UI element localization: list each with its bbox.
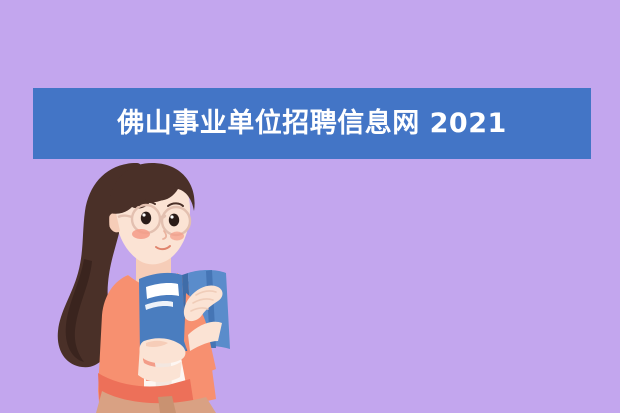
promo-banner: 佛山事业单位招聘信息网 2021 — [0, 0, 620, 413]
page-title: 佛山事业单位招聘信息网 2021 — [117, 110, 507, 137]
cheek-blush-right — [170, 232, 184, 241]
eye-left — [141, 212, 151, 225]
glasses-temple — [118, 216, 132, 218]
eye-right — [169, 214, 179, 227]
glasses-bridge — [160, 216, 165, 218]
woman-reading-book-illustration — [40, 155, 245, 413]
woman-reading-book-svg — [40, 155, 245, 413]
eye-right-highlight — [170, 215, 173, 218]
cheek-blush-left — [132, 229, 150, 239]
eye-left-highlight — [142, 213, 145, 216]
title-bar: 佛山事业单位招聘信息网 2021 — [33, 88, 591, 159]
